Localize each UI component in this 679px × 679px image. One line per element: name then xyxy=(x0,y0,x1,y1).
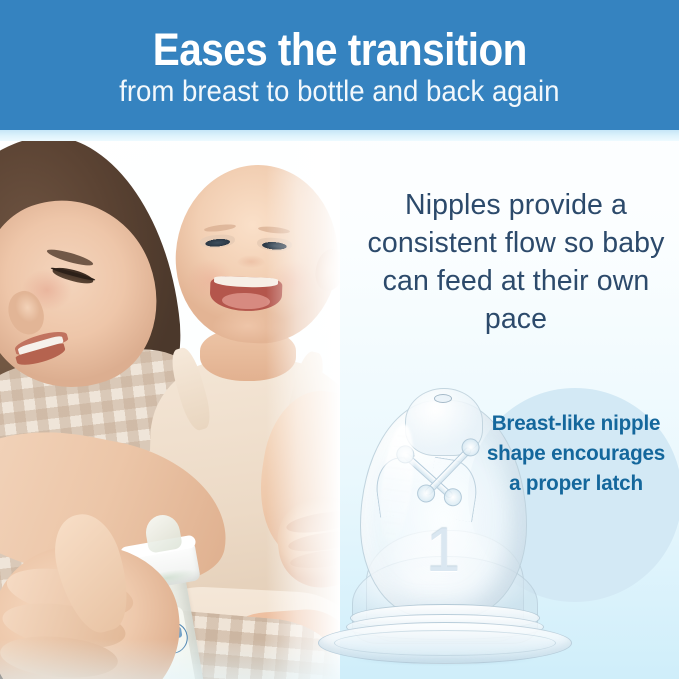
product-feature-image: Eases the transition from breast to bott… xyxy=(0,0,679,679)
lifestyle-photo xyxy=(0,141,340,679)
header-banner: Eases the transition from breast to bott… xyxy=(0,0,679,130)
nipple-flow-hole-icon xyxy=(434,394,452,403)
photo-bottom-fade xyxy=(0,639,340,679)
baby-nose xyxy=(236,255,266,277)
nipple-flange-inner-ring xyxy=(334,630,556,656)
banner-bottom-edge xyxy=(0,130,679,141)
callout-text: Breast-like nipple shape encourages a pr… xyxy=(482,408,670,498)
body-copy-text: Nipples provide a consistent flow so bab… xyxy=(360,186,672,338)
banner-subtitle: from breast to bottle and back again xyxy=(119,74,559,110)
banner-title: Eases the transition xyxy=(152,24,526,76)
nipple-level-marking: 1 xyxy=(404,512,482,590)
